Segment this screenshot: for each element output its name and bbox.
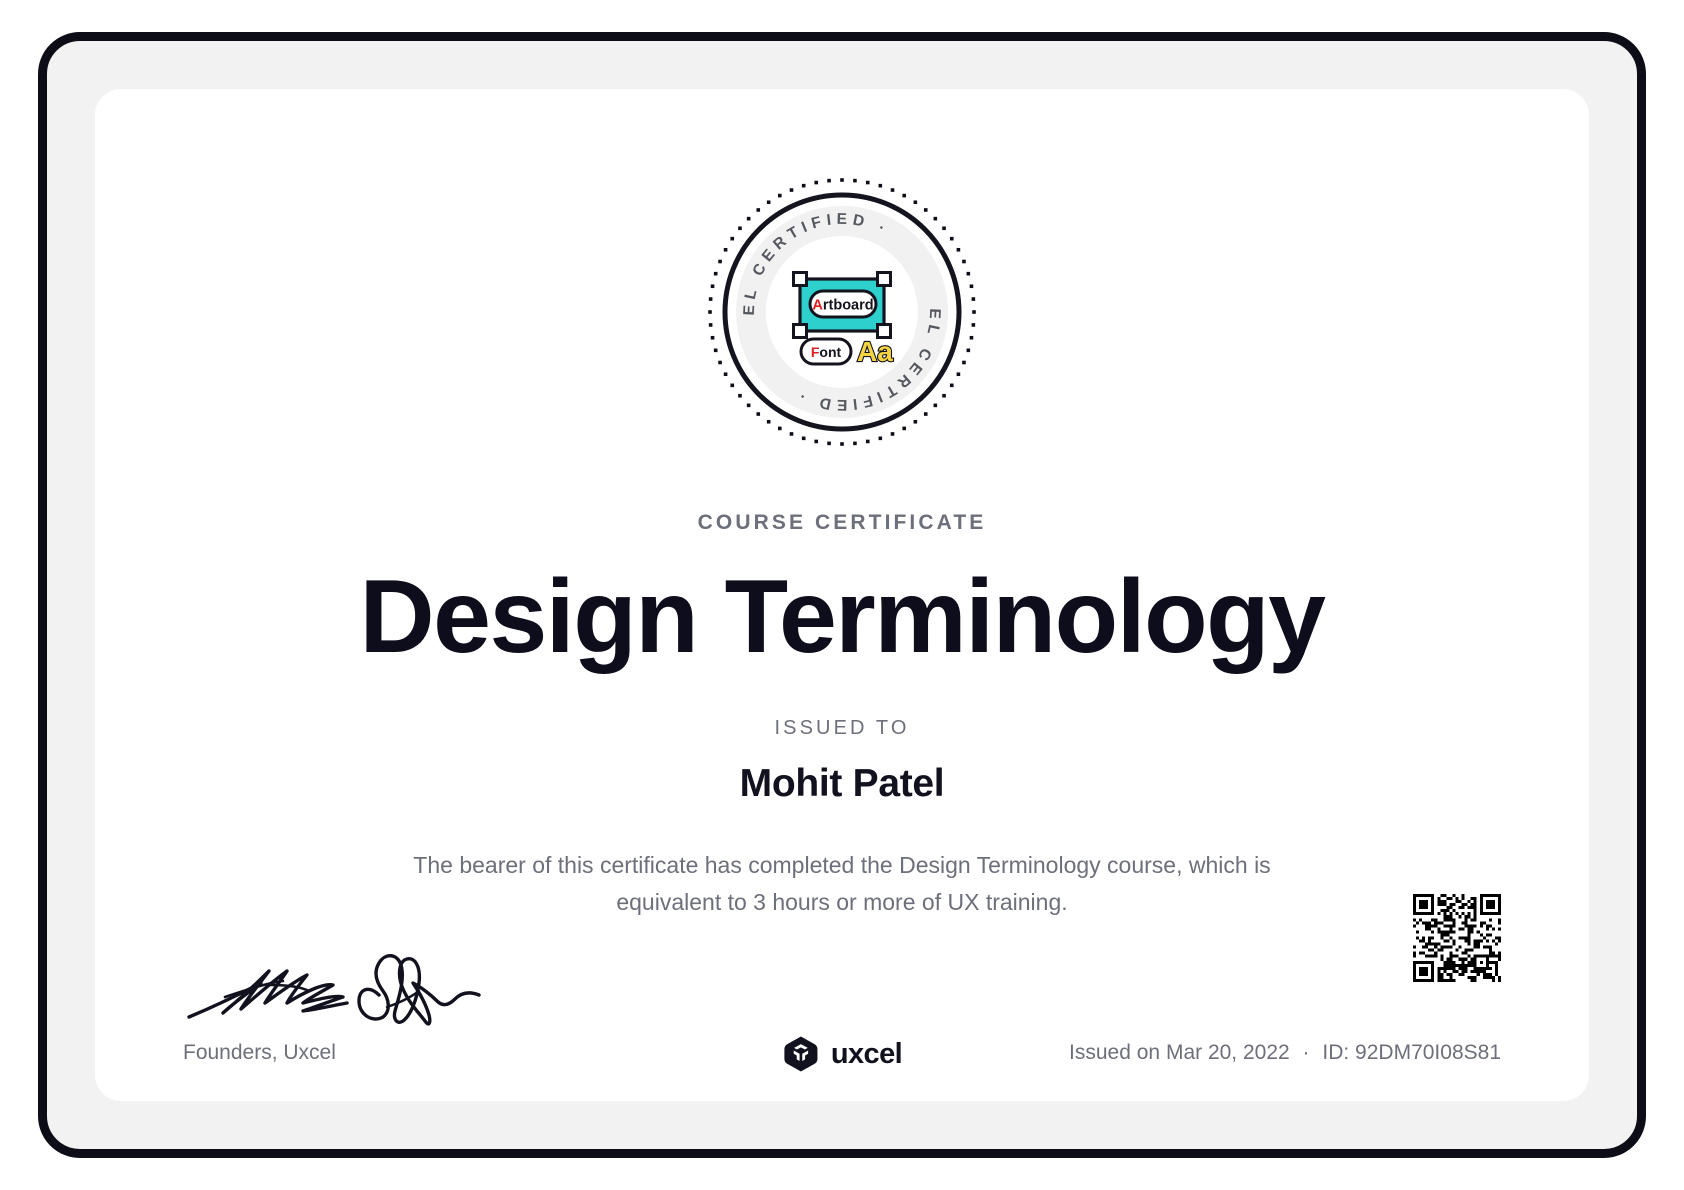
handle-bottom-left bbox=[794, 325, 807, 338]
uxcel-wordmark: uxcel bbox=[831, 1038, 902, 1071]
course-certificate-kicker: COURSE CERTIFICATE bbox=[95, 511, 1589, 535]
recipient-name: Mohit Patel bbox=[95, 762, 1589, 806]
handle-top-right bbox=[878, 273, 891, 286]
issued-to-label: ISSUED TO bbox=[95, 717, 1589, 740]
handle-top-left bbox=[794, 273, 807, 286]
font-icon: Font Aa bbox=[801, 336, 893, 367]
meta-separator: · bbox=[1296, 1041, 1317, 1064]
badge-seal-icon: UXCEL CERTIFIED · UXCEL CERTIFIED · bbox=[697, 167, 987, 457]
certification-badge: UXCEL CERTIFIED · UXCEL CERTIFIED · bbox=[697, 167, 987, 457]
signature-icon bbox=[183, 941, 513, 1033]
uxcel-cube-logo-icon bbox=[782, 1035, 820, 1073]
signatures bbox=[183, 941, 513, 1033]
verification-qr-code[interactable] bbox=[1413, 894, 1501, 982]
issued-on-date: Issued on Mar 20, 2022 bbox=[1069, 1041, 1290, 1064]
issue-metadata: Issued on Mar 20, 2022 · ID: 92DM70I08S8… bbox=[1069, 1041, 1501, 1065]
aa-glyph-label: Aa bbox=[857, 336, 893, 367]
qr-code-icon bbox=[1413, 894, 1501, 982]
founders-caption: Founders, Uxcel bbox=[183, 1041, 336, 1065]
course-title: Design Terminology bbox=[95, 559, 1589, 675]
certificate-id: ID: 92DM70I08S81 bbox=[1322, 1041, 1501, 1064]
certificate-frame: UXCEL CERTIFIED · UXCEL CERTIFIED · bbox=[38, 32, 1646, 1158]
certificate-description: The bearer of this certificate has compl… bbox=[392, 847, 1292, 921]
certificate-card: UXCEL CERTIFIED · UXCEL CERTIFIED · bbox=[95, 89, 1589, 1101]
uxcel-brand: uxcel bbox=[782, 1035, 902, 1073]
font-pill-label: Font bbox=[811, 344, 842, 360]
artboard-pill-label: Artboard bbox=[812, 298, 873, 314]
artboard-icon: Artboard bbox=[794, 273, 891, 338]
